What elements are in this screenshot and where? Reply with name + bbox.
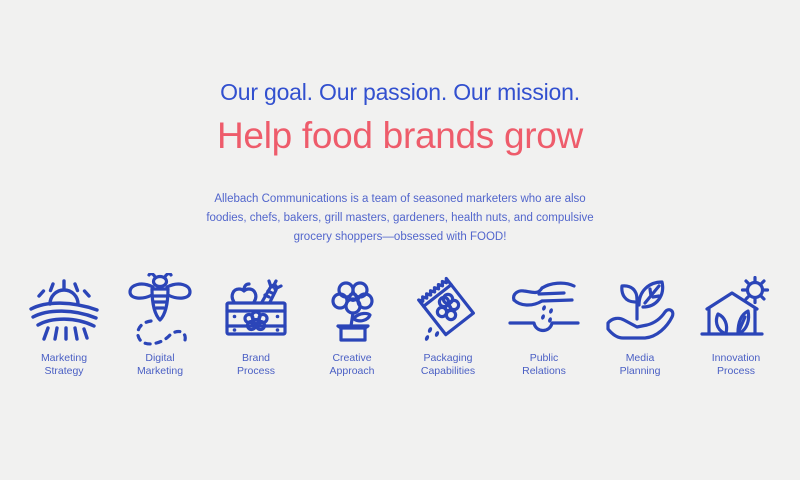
service-label: Media Planning	[620, 352, 661, 378]
service-item-digital-marketing[interactable]: Digital Marketing	[112, 274, 208, 378]
service-label: Marketing Strategy	[41, 352, 87, 378]
potted-flower-icon	[320, 274, 384, 346]
service-label: Public Relations	[522, 352, 566, 378]
page-root: Our goal. Our passion. Our mission. Help…	[0, 0, 800, 480]
seed-packet-icon	[412, 274, 484, 346]
services-icon-row: Marketing Strategy Digital Marketing	[0, 274, 800, 378]
service-item-innovation-process[interactable]: Innovation Process	[688, 274, 784, 378]
service-item-packaging-capabilities[interactable]: Packaging Capabilities	[400, 274, 496, 378]
hero-headline: Help food brands grow	[0, 114, 800, 158]
bee-icon	[125, 274, 195, 346]
service-label: Digital Marketing	[137, 352, 183, 378]
service-item-creative-approach[interactable]: Creative Approach	[304, 274, 400, 378]
sun-over-field-icon	[26, 274, 102, 346]
service-label: Innovation Process	[712, 352, 760, 378]
produce-crate-icon	[218, 274, 294, 346]
hand-sowing-seeds-icon	[506, 274, 582, 346]
intro-paragraph: Allebach Communications is a team of sea…	[200, 190, 600, 247]
service-item-public-relations[interactable]: Public Relations	[496, 274, 592, 378]
service-item-brand-process[interactable]: Brand Process	[208, 274, 304, 378]
service-item-media-planning[interactable]: Media Planning	[592, 274, 688, 378]
service-label: Brand Process	[237, 352, 275, 378]
service-label: Packaging Capabilities	[421, 352, 475, 378]
service-item-marketing-strategy[interactable]: Marketing Strategy	[16, 274, 112, 378]
greenhouse-sun-icon	[698, 274, 774, 346]
hero-eyebrow: Our goal. Our passion. Our mission.	[0, 78, 800, 106]
hero-section: Our goal. Our passion. Our mission. Help…	[0, 0, 800, 158]
service-label: Creative Approach	[330, 352, 375, 378]
hand-holding-sprout-icon	[603, 274, 677, 346]
